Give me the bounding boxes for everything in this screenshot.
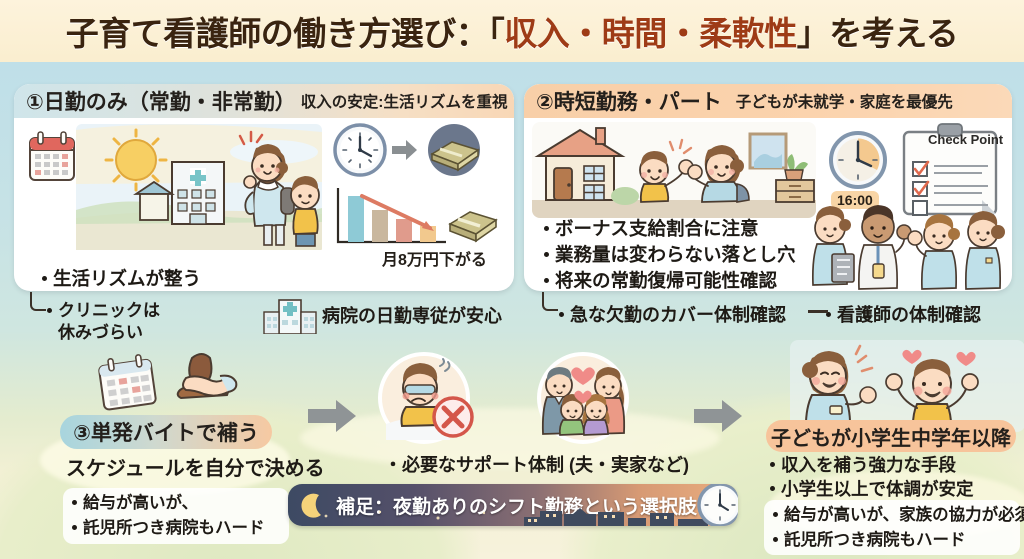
page-title: 子育て看護師の働き方選び：「収入・時間・柔軟性」を考える [66,7,959,55]
list-item: 給与が高いが、家族の協力が必須 [773,503,1011,528]
panel4-bullet-box: 給与が高いが、家族の協力が必須 託児所つき病院もハード [764,500,1020,555]
panel1-header: ①日勤のみ（常勤・非常勤） 収入の安定:生活リズムを重視 [14,84,514,118]
hospital-icon-small [262,292,318,334]
support-note: ・必要なサポート体制 (夫・実家など) [384,451,689,477]
child-figure [291,176,319,246]
panel2-home-illustration [532,122,816,218]
city-skyline [288,506,738,526]
panel1-illustration [24,122,324,252]
list-item: 託児所つき病院もハード [773,528,1011,553]
chart-annotation: 月8万円下がる [382,246,487,270]
panel-short-hours: ②時短勤務・パート 子どもが未就学・家庭を最優先 [524,84,1012,291]
panel4-illustration [790,340,1024,432]
list-item: 生活リズムが整う [42,266,201,291]
checkpoint-title: Check Point [928,132,1003,147]
list-item: ボーナス支給割合に注意 [544,216,796,242]
panel2-leader-line-left [542,292,558,311]
arrow-right-icon[interactable] [306,398,358,434]
calendar-icon-small [95,350,170,412]
panel4-bullet-list-top: 収入を補う強力な手段 小学生以上で体調が安定 [770,453,974,501]
panel-day-shift: ①日勤のみ（常勤・非常勤） 収入の安定:生活リズムを重視 [14,84,514,291]
calendar-icon [30,132,74,180]
family-icon [528,352,638,444]
sick-child-icon [372,352,482,444]
title-text-before: 子育て看護師の働き方選び：「 [66,15,505,52]
panel4-pill: 子どもが小学生中学年以降 [766,420,1016,452]
panel1-bullet-list: 生活リズムが整う 毎日の送迎可能 リアルな収入変化 [42,266,201,291]
nurse-figure [966,211,1005,289]
panel1-leader-line-left [30,292,46,311]
title-text-emphasis: 収入・時間・柔軟性 [504,15,797,52]
panel2-heading: ②時短勤務・パート [536,86,722,116]
arrow-right-icon[interactable] [692,398,744,434]
panel3-subtitle: スケジュールを自分で決める [66,452,325,481]
list-item: 収入を補う強力な手段 [770,453,974,477]
panel2-note-right: 看護師の体制確認 [826,301,981,327]
bar-chart [338,188,446,242]
nurse-team-illustration [804,202,1009,291]
title-bar: 子育て看護師の働き方選び：「収入・時間・柔軟性」を考える [0,0,1024,62]
window-icon [750,134,786,168]
list-item: 小学生以上で体調が安定 [770,477,974,501]
panel3-pill: ③単発バイトで補う [60,415,272,449]
money-stack-icon [450,212,496,241]
list-item: 託児所つき病院もハード [72,516,280,541]
nurse-figure [813,206,854,285]
panel2-bullet-list: ボーナス支給割合に注意 業務量は変わらない落とし穴 将来の常勤復帰可能性確認 [544,216,796,291]
panel1-income-chart [326,122,508,252]
arrow-right-icon [392,140,417,160]
panel2-leader-line-right [808,310,828,313]
panel1-note-left: クリニックは 休みづらい [47,300,160,344]
nurse-figure [908,214,960,289]
panel2-header: ②時短勤務・パート 子どもが未就学・家庭を最優先 [524,84,1012,118]
list-item: 将来の常勤復帰可能性確認 [544,268,796,291]
money-stack-icon [428,124,480,176]
panel3-bullet-box: 給与が高いが、 託児所つき病院もハード [63,488,289,544]
title-text-after: 」を考える [797,15,959,52]
clock-icon [335,125,385,175]
clock-icon [831,133,885,187]
infographic-canvas: 子育て看護師の働き方選び：「収入・時間・柔軟性」を考える ①日勤のみ（常勤・非常… [0,0,1024,559]
list-item: 給与が高いが、 [72,491,280,516]
list-item: 業務量は変わらない落とし穴 [544,242,796,268]
panel2-subheading: 子どもが未就学・家庭を最優先 [736,90,953,112]
panel2-note-left: 急な欠勤のカバー体制確認 [559,301,786,327]
panel1-subheading: 収入の安定:生活リズムを重視 [301,90,508,112]
star-icon [325,511,486,520]
nurse-figure [859,205,911,289]
panel1-note-right: 病院の日勤専従が安心 [322,302,502,328]
night-shift-banner: 補足：夜勤ありのシフト勤務という選択肢 [288,484,738,526]
sun-icon [106,130,166,190]
dresser-icon [776,180,814,202]
panel1-heading: ①日勤のみ（常勤・非常勤） [26,86,296,116]
clock-icon [696,484,738,526]
stamp-hand-icon [170,348,250,414]
